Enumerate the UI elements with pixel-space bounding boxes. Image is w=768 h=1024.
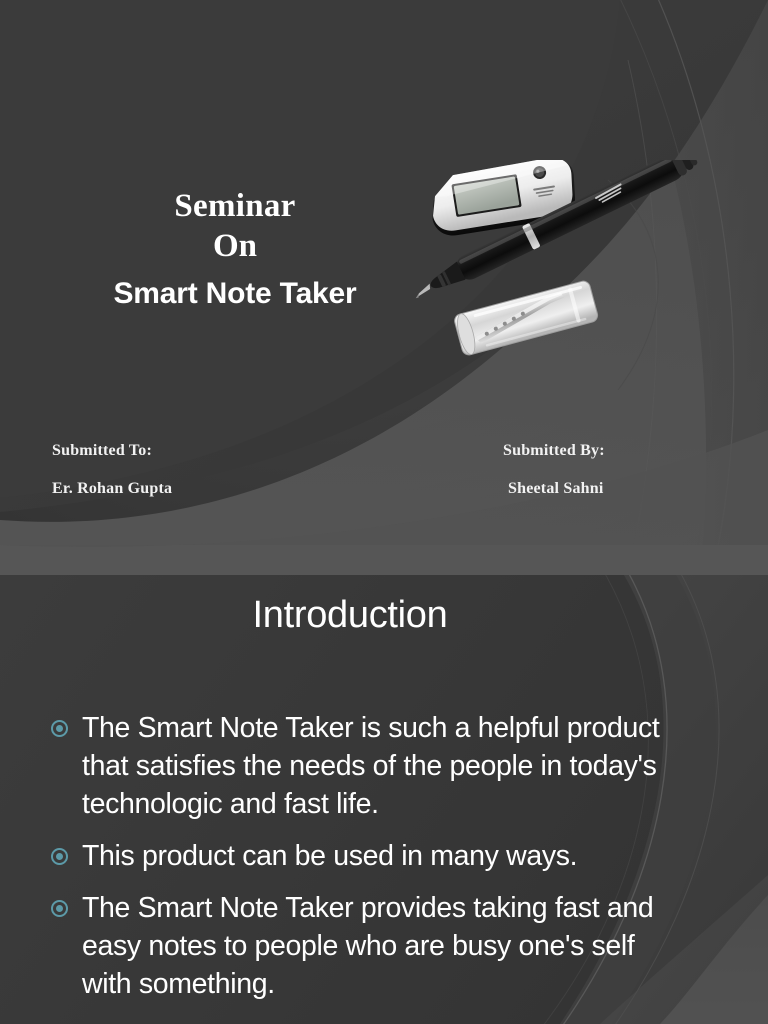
slide-title: Seminar On Smart Note Taker bbox=[0, 0, 768, 575]
presentation-deck: Seminar On Smart Note Taker bbox=[0, 0, 768, 1024]
bullet-target-icon bbox=[51, 900, 68, 917]
list-item-text: The Smart Note Taker provides taking fas… bbox=[82, 892, 653, 1000]
title-line-product: Smart Note Taker bbox=[0, 273, 470, 315]
slide-introduction: Introduction The Smart Note Taker is suc… bbox=[0, 575, 768, 1024]
submitted-by-label: Submitted By: bbox=[503, 442, 605, 460]
page-title: Introduction bbox=[0, 594, 700, 637]
list-item-text: This product can be used in many ways. bbox=[82, 840, 577, 872]
bullet-target-icon bbox=[51, 720, 68, 737]
submitted-to-name: Er. Rohan Gupta bbox=[52, 480, 172, 498]
introduction-bullet-list: The Smart Note Taker is such a helpful p… bbox=[46, 709, 686, 1017]
list-item: The Smart Note Taker is such a helpful p… bbox=[46, 709, 686, 823]
list-item: The Smart Note Taker provides taking fas… bbox=[46, 889, 686, 1003]
list-item: This product can be used in many ways. bbox=[46, 837, 686, 875]
title-line-on: On bbox=[0, 226, 470, 266]
list-item-text: The Smart Note Taker is such a helpful p… bbox=[82, 712, 659, 820]
submitted-by-name: Sheetal Sahni bbox=[508, 480, 604, 498]
title-block: Seminar On Smart Note Taker bbox=[0, 186, 470, 315]
submitted-to-label: Submitted To: bbox=[52, 442, 152, 460]
bullet-target-icon bbox=[51, 848, 68, 865]
title-line-seminar: Seminar bbox=[0, 186, 470, 226]
